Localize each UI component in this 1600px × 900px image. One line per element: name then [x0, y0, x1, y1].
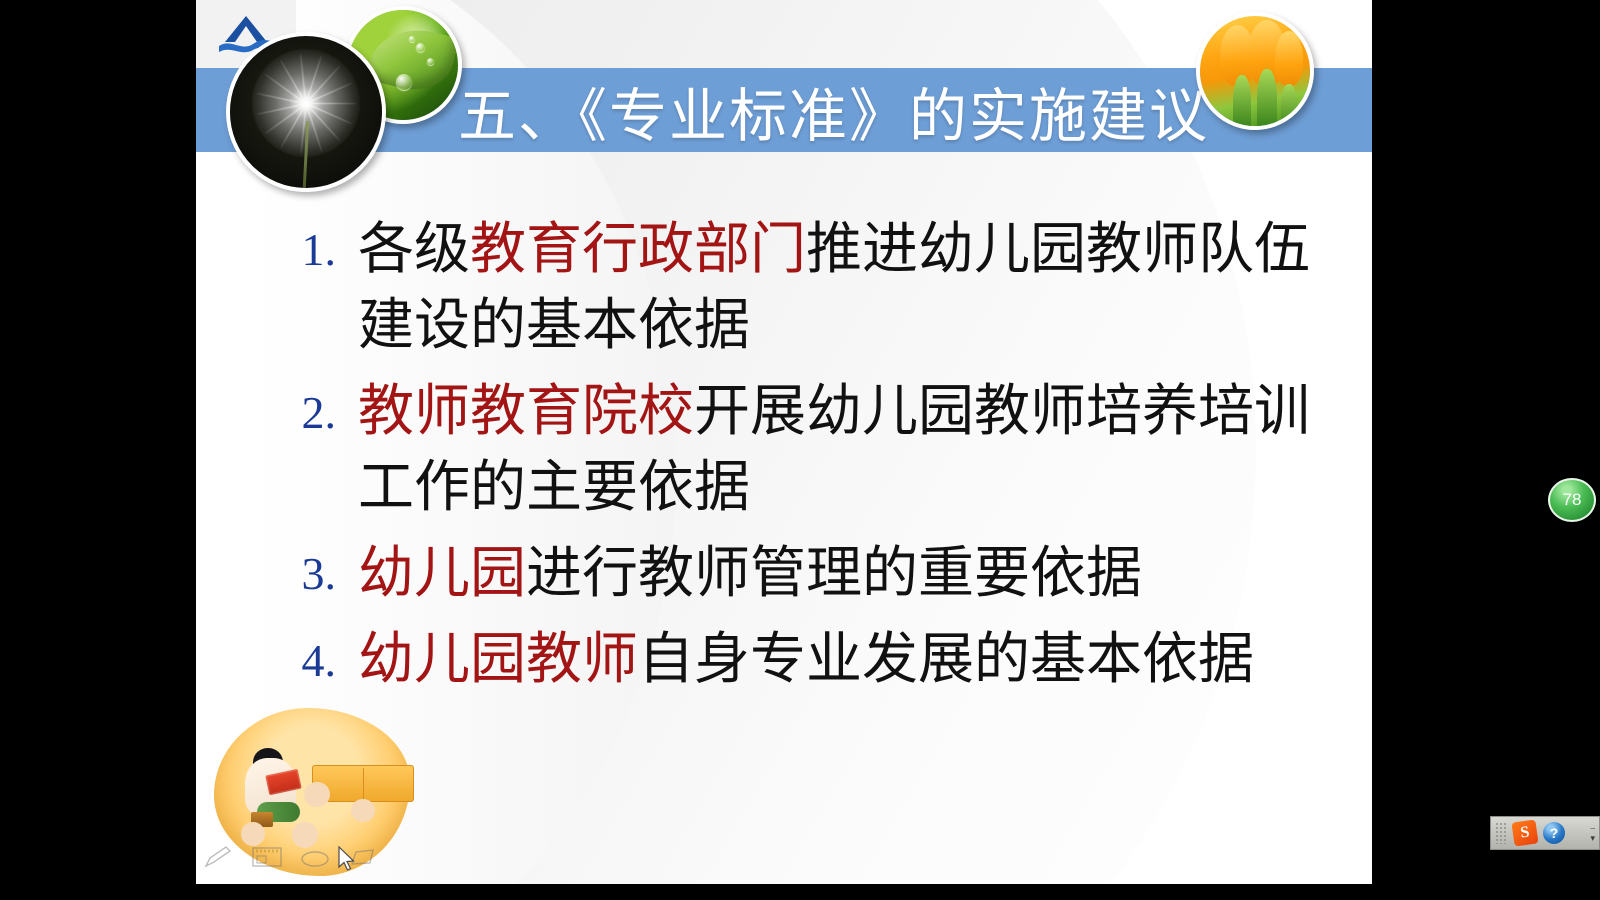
list-item-highlight: 幼儿园	[358, 543, 526, 605]
sogou-input-method-icon[interactable]: S	[1511, 819, 1538, 846]
list-item[interactable]: 4. 幼儿园教师自身专业发展的基本依据	[274, 622, 1344, 700]
mouse-pointer-icon	[338, 846, 356, 872]
list-item-text: 幼儿园教师自身专业发展的基本依据	[358, 622, 1254, 698]
powerpoint-slide[interactable]: 五、《专业标准》的实施建议	[196, 0, 1372, 884]
minimize-icon[interactable]: –	[1590, 825, 1595, 832]
list-item-text: 教师教育院校开展幼儿园教师培养培训工作的主要依据	[358, 374, 1344, 526]
highlighter-icon[interactable]	[298, 844, 332, 870]
pen-icon[interactable]	[202, 844, 236, 870]
help-icon[interactable]: ?	[1543, 822, 1565, 844]
dandelion-photo-circle	[226, 32, 386, 192]
list-item[interactable]: 2. 教师教育院校开展幼儿园教师培养培训工作的主要依据	[274, 374, 1344, 526]
screen-root: 五、《专业标准》的实施建议	[0, 0, 1600, 900]
slide-number-badge[interactable]: 78	[1548, 478, 1596, 522]
list-item-prefix: 各级	[358, 219, 470, 281]
ime-window-controls[interactable]: – ▾	[1590, 825, 1595, 842]
list-item-text: 幼儿园进行教师管理的重要依据	[358, 536, 1142, 612]
list-item-highlight: 教师教育院校	[358, 381, 694, 443]
slide-body-list: 1. 各级教育行政部门推进幼儿园教师队伍建设的基本依据 2. 教师教育院校开展幼…	[274, 212, 1344, 710]
list-item[interactable]: 1. 各级教育行政部门推进幼儿园教师队伍建设的基本依据	[274, 212, 1344, 364]
list-item-highlight: 教育行政部门	[470, 219, 806, 281]
list-item-number: 3.	[274, 536, 358, 612]
list-item-number: 2.	[274, 374, 358, 452]
list-item-suffix: 自身专业发展的基本依据	[638, 629, 1254, 691]
slide-navigator-icon[interactable]	[250, 844, 284, 870]
list-item-number: 1.	[274, 212, 358, 288]
list-item-number: 4.	[274, 622, 358, 700]
ime-language-bar[interactable]: S ? – ▾	[1490, 816, 1600, 850]
tulip-photo-circle	[1196, 12, 1314, 130]
drag-grip-icon[interactable]	[1495, 822, 1507, 844]
list-item-suffix: 进行教师管理的重要依据	[526, 543, 1142, 605]
expand-icon[interactable]: ▾	[1590, 835, 1595, 842]
list-item-highlight: 幼儿园教师	[358, 629, 638, 691]
list-item[interactable]: 3. 幼儿园进行教师管理的重要依据	[274, 536, 1344, 612]
list-item-text: 各级教育行政部门推进幼儿园教师队伍建设的基本依据	[358, 212, 1344, 364]
